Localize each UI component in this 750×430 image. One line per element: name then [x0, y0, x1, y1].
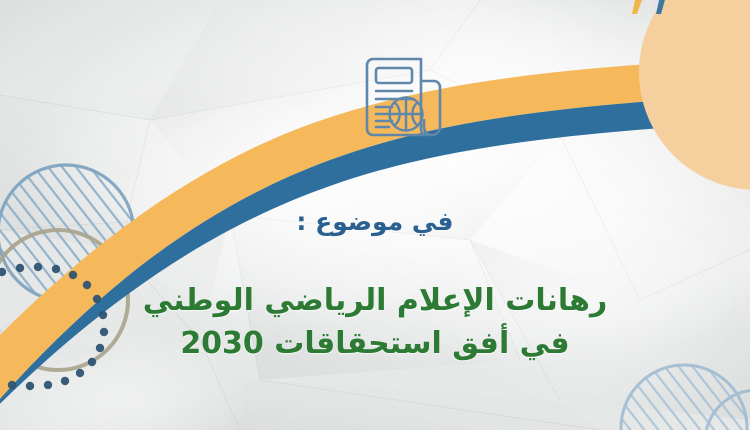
eyebrow-label: في موضوع :	[0, 207, 750, 237]
headline-line-1: رهانات الإعلام الرياضي الوطني	[0, 280, 750, 323]
partial-logo-icon	[616, 0, 686, 14]
headline-line-2: في أفق استحقاقات 2030	[0, 323, 750, 366]
event-banner: في موضوع : رهانات الإعلام الرياضي الوطني…	[0, 0, 750, 430]
orange-disc-decoration	[639, 0, 750, 190]
banner-text-block: في موضوع : رهانات الإعلام الرياضي الوطني…	[0, 207, 750, 365]
newspaper-basketball-icon	[347, 48, 455, 148]
hatched-circle-decoration-bottom-right	[621, 365, 750, 430]
page-title: رهانات الإعلام الرياضي الوطني في أفق است…	[0, 280, 750, 365]
